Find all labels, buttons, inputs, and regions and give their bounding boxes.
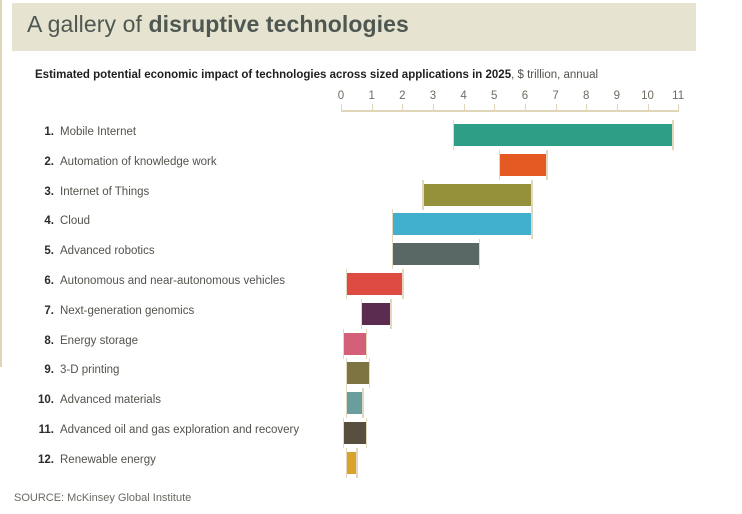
- x-tick-mark: [372, 104, 373, 110]
- row-rank: 4.: [24, 215, 54, 227]
- row-label: Autonomous and near-autonomous vehicles: [60, 275, 285, 287]
- x-tick-mark: [525, 104, 526, 110]
- chart-row: 5.Advanced robotics: [0, 239, 742, 269]
- range-bar: [500, 154, 546, 176]
- x-tick-mark: [556, 104, 557, 110]
- chart-row: 2.Automation of knowledge work: [0, 150, 742, 180]
- range-bar: [393, 243, 479, 265]
- x-tick-label: 1: [368, 90, 374, 102]
- row-rank: 3.: [24, 186, 54, 198]
- row-rank: 9.: [24, 364, 54, 376]
- x-tick-label: 7: [552, 90, 558, 102]
- bar-cap-high: [531, 209, 533, 239]
- x-tick-label: 8: [583, 90, 589, 102]
- chart-row: 9.3-D printing: [0, 358, 742, 388]
- x-tick-mark: [341, 104, 342, 110]
- bar-cap-high: [546, 150, 548, 180]
- row-label: Internet of Things: [60, 186, 149, 198]
- chart-row: 1.Mobile Internet: [0, 120, 742, 150]
- row-rank: 2.: [24, 156, 54, 168]
- row-label: 3-D printing: [60, 364, 119, 376]
- row-rank: 1.: [24, 126, 54, 138]
- range-bar: [347, 452, 356, 474]
- row-label: Advanced robotics: [60, 245, 155, 257]
- row-rank: 5.: [24, 245, 54, 257]
- row-label: Advanced oil and gas exploration and rec…: [60, 424, 299, 436]
- row-rank: 7.: [24, 305, 54, 317]
- range-bar: [344, 422, 365, 444]
- x-tick-mark: [402, 104, 403, 110]
- bar-cap-high: [362, 388, 364, 418]
- row-rank: 8.: [24, 335, 54, 347]
- bar-cap-high: [402, 269, 404, 299]
- x-tick-label: 6: [522, 90, 528, 102]
- x-tick-mark: [586, 104, 587, 110]
- x-tick-mark: [648, 104, 649, 110]
- x-tick-label: 3: [430, 90, 436, 102]
- row-label: Energy storage: [60, 335, 138, 347]
- chart-row: 12.Renewable energy: [0, 448, 742, 478]
- row-rank: 6.: [24, 275, 54, 287]
- range-bar: [393, 213, 531, 235]
- chart-row: 7.Next-generation genomics: [0, 299, 742, 329]
- x-tick-label: 11: [672, 90, 684, 102]
- row-label: Renewable energy: [60, 454, 156, 466]
- range-bar: [344, 333, 365, 355]
- x-tick-mark: [464, 104, 465, 110]
- range-bar: [362, 303, 390, 325]
- range-bar-chart: 01234567891011 1.Mobile Internet2.Automa…: [0, 0, 742, 514]
- chart-row: 8.Energy storage: [0, 329, 742, 359]
- range-bar: [424, 184, 531, 206]
- chart-row: 3.Internet of Things: [0, 180, 742, 210]
- row-label: Automation of knowledge work: [60, 156, 217, 168]
- x-tick-label: 9: [614, 90, 620, 102]
- bar-cap-high: [366, 418, 368, 448]
- row-label: Advanced materials: [60, 394, 161, 406]
- bar-cap-high: [356, 448, 358, 478]
- x-tick-label: 10: [641, 90, 654, 102]
- x-tick-mark: [678, 104, 679, 110]
- bar-cap-high: [531, 180, 533, 210]
- x-tick-mark: [494, 104, 495, 110]
- x-tick-label: 2: [399, 90, 405, 102]
- x-tick-label: 0: [338, 90, 344, 102]
- chart-row: 10.Advanced materials: [0, 388, 742, 418]
- range-bar: [454, 124, 672, 146]
- row-label: Next-generation genomics: [60, 305, 194, 317]
- chart-row: 4.Cloud: [0, 209, 742, 239]
- x-tick-mark: [433, 104, 434, 110]
- bar-cap-high: [479, 239, 481, 269]
- row-rank: 10.: [24, 394, 54, 406]
- row-rank: 11.: [24, 424, 54, 436]
- chart-row: 6.Autonomous and near-autonomous vehicle…: [0, 269, 742, 299]
- bar-cap-high: [390, 299, 392, 329]
- chart-row: 11.Advanced oil and gas exploration and …: [0, 418, 742, 448]
- x-axis-line: [341, 110, 679, 112]
- range-bar: [347, 273, 402, 295]
- row-label: Mobile Internet: [60, 126, 136, 138]
- source-note: SOURCE: McKinsey Global Institute: [14, 492, 191, 504]
- bar-cap-high: [672, 120, 674, 150]
- x-tick-label: 4: [460, 90, 466, 102]
- x-tick-mark: [617, 104, 618, 110]
- bar-cap-high: [369, 358, 371, 388]
- range-bar: [347, 362, 368, 384]
- range-bar: [347, 392, 362, 414]
- x-tick-label: 5: [491, 90, 497, 102]
- row-label: Cloud: [60, 215, 90, 227]
- row-rank: 12.: [24, 454, 54, 466]
- bar-cap-high: [366, 329, 368, 359]
